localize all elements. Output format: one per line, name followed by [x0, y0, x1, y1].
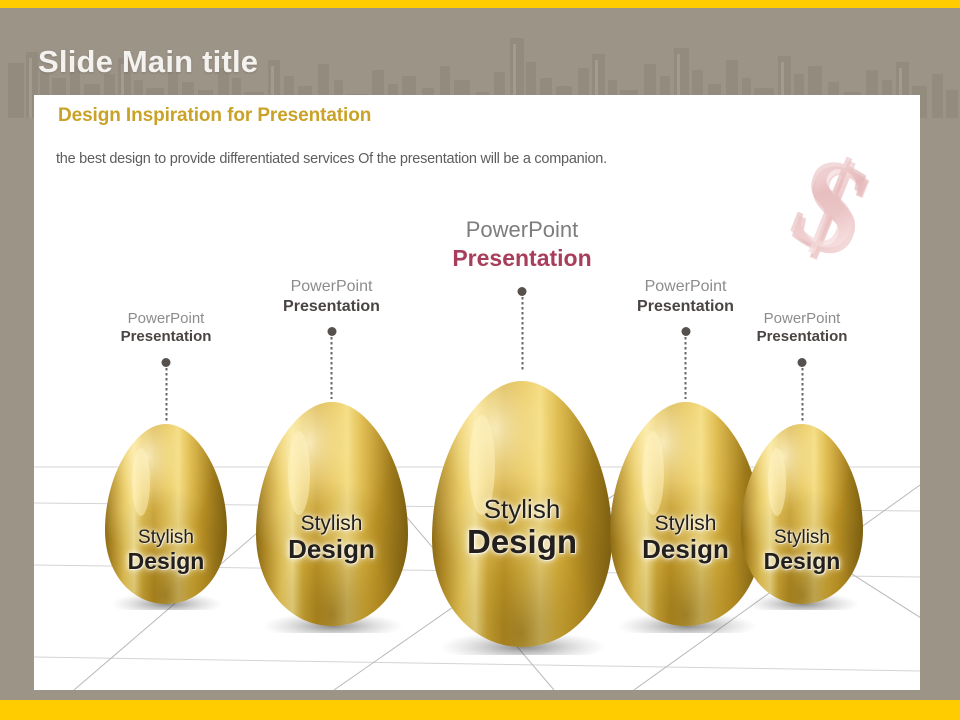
- leader-stem: [685, 337, 687, 399]
- callout-line2: Presentation: [757, 328, 848, 346]
- egg-label-2: Stylish Design: [288, 512, 375, 564]
- callout-label-4: PowerPoint Presentation: [637, 277, 734, 316]
- egg-line2: Design: [467, 524, 577, 560]
- callout-line2: Presentation: [452, 244, 591, 272]
- leader-stem: [521, 297, 523, 372]
- egg-line1: Stylish: [128, 528, 205, 549]
- egg-label-3: Stylish Design: [467, 495, 577, 560]
- egg-shape-5[interactable]: [731, 420, 873, 610]
- callout-line2: Presentation: [121, 328, 212, 346]
- callout-line2: Presentation: [283, 297, 380, 317]
- egg-line2: Design: [642, 535, 729, 564]
- leader-line-4: [681, 327, 690, 399]
- callout-label-2: PowerPoint Presentation: [283, 277, 380, 316]
- egg-line1: Stylish: [288, 512, 375, 535]
- callout-line1: PowerPoint: [757, 310, 848, 328]
- page-title: Slide Main title: [38, 44, 258, 80]
- egg-line1: Stylish: [642, 512, 729, 535]
- leader-dot-icon: [681, 327, 690, 336]
- leader-line-1: [162, 358, 171, 423]
- leader-stem: [801, 368, 803, 423]
- egg-line2: Design: [288, 535, 375, 564]
- leader-stem: [165, 368, 167, 423]
- egg-label-5: Stylish Design: [764, 528, 841, 574]
- egg-line2: Design: [764, 549, 841, 574]
- leader-dot-icon: [798, 358, 807, 367]
- callout-line1: PowerPoint: [637, 277, 734, 297]
- leader-dot-icon: [518, 287, 527, 296]
- egg-label-4: Stylish Design: [642, 512, 729, 564]
- leader-stem: [331, 337, 333, 399]
- egg-line1: Stylish: [467, 495, 577, 524]
- callout-label-1: PowerPoint Presentation: [121, 310, 212, 347]
- egg-shape-1[interactable]: [95, 420, 237, 610]
- top-accent-bar: [0, 0, 960, 8]
- egg-label-1: Stylish Design: [128, 528, 205, 574]
- leader-dot-icon: [327, 327, 336, 336]
- egg-line2: Design: [128, 549, 205, 574]
- callout-line1: PowerPoint: [121, 310, 212, 328]
- leader-dot-icon: [162, 358, 171, 367]
- callout-line2: Presentation: [637, 297, 734, 317]
- callout-label-3: PowerPoint Presentation: [452, 217, 591, 272]
- callout-line1: PowerPoint: [283, 277, 380, 297]
- leader-line-3: [518, 287, 527, 372]
- callout-line1: PowerPoint: [452, 217, 591, 244]
- leader-line-2: [327, 327, 336, 399]
- bottom-accent-bar: [0, 700, 960, 720]
- egg-line1: Stylish: [764, 528, 841, 549]
- leader-line-5: [798, 358, 807, 423]
- callout-label-5: PowerPoint Presentation: [757, 310, 848, 347]
- content-panel: Design Inspiration for Presentation the …: [34, 95, 920, 690]
- egg-chart: PowerPoint Presentation Stylish Design: [34, 95, 920, 690]
